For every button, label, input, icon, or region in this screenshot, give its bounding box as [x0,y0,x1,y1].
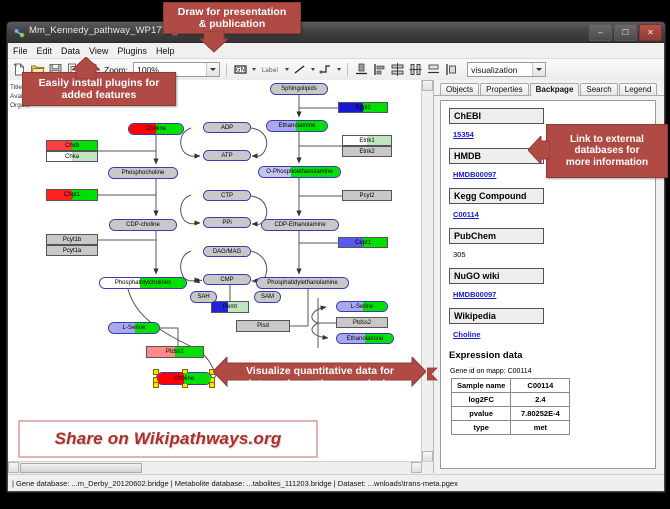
gene-node-sgpl1[interactable]: Sgpl1 [338,102,388,113]
gene-node-ptdss2[interactable]: Ptdss2 [336,317,388,328]
align-bottom-icon[interactable] [354,62,369,77]
metabolite-node-cdp-ethanolamine[interactable]: CDP-Ethanolamine [261,219,339,231]
close-button[interactable]: ✕ [639,24,662,41]
hscroll-thumb[interactable] [20,463,142,473]
callout-plugins-line2: added features [62,89,137,101]
line-dropdown-icon[interactable] [311,68,315,71]
svg-text:GN: GN [236,67,245,74]
db-link-nugo-wiki[interactable]: HMDB00097 [453,290,496,299]
callout-visualize-line1: Visualize quantitative data for [246,365,394,378]
node-label: PPi [222,220,231,226]
status-bar: | Gene database: ...m_Derby_20120602.bri… [8,474,664,491]
metabolite-node-ethanolamine-top[interactable]: Ethanolamine [266,120,328,132]
gene-node-pcyt1a[interactable]: Pcyt1a [46,245,98,256]
title-bar: Mm_Kennedy_pathway_WP1771_45176.gpml – ☐… [7,22,665,43]
metabolite-node-ctp[interactable]: CTP [203,190,251,201]
metabolite-node-o-phosphoethanolamine[interactable]: O-Phosphoethanolamine [258,166,341,178]
node-label: Ptdss1 [166,349,184,355]
node-label: Chkb [65,143,79,149]
connector-dropdown-icon[interactable] [337,68,341,71]
callout-link-line1: Link to external [570,134,644,146]
node-label: DAG/MAG [213,249,241,255]
chevron-down-icon[interactable] [206,63,219,76]
node-label: Pcyt1a [63,248,81,254]
stack-icon[interactable] [426,62,441,77]
node-label: O-Phosphoethanolamine [266,169,332,175]
node-label: CDP-choline [126,222,160,228]
scroll-right-button[interactable] [411,462,422,473]
scroll-up-button[interactable] [422,80,433,91]
line-icon[interactable] [292,62,307,77]
menu-edit[interactable]: Edit [37,46,53,56]
gene-node-etnk1[interactable]: Etnk1 [342,135,392,146]
db-link-wikipedia[interactable]: Choline [453,330,481,339]
expr-value: 2.4 [511,393,570,407]
callout-link-arrow [528,136,550,164]
metabolite-node-cmp[interactable]: CMP [203,274,251,285]
screenshot-root: Mm_Kennedy_pathway_WP1771_45176.gpml – ☐… [0,0,670,509]
tab-objects[interactable]: Objects [440,83,479,95]
expr-value: met [511,421,570,435]
datanode-dropdown-icon[interactable] [252,68,256,71]
tab-legend[interactable]: Legend [619,83,658,95]
node-label: Ethanolamine [279,123,316,129]
expr-value: C00114 [511,379,570,393]
db-value-row: HMDB00097 [449,284,647,302]
maximize-icon: ☐ [622,29,629,37]
callout-draw-arrow [200,31,228,53]
node-label: Chka [65,154,79,160]
metabolite-node-adp[interactable]: ADP [203,122,251,133]
node-label: Chpt1 [64,192,80,198]
callout-link: Link to external databases for more info… [546,124,668,178]
expr-key: Sample name [452,379,511,393]
callout-plugins-arrow [72,57,100,79]
metabolite-node-dag-mag[interactable]: DAG/MAG [203,246,251,257]
node-label: Phosphatidylethanolamine [267,280,337,286]
node-label: Sgpl1 [355,105,370,111]
node-label: Etnk1 [359,138,374,144]
callout-share-text: Share on Wikipathways.org [55,429,282,449]
callout-visualize-line2: integrative pathway analysis [249,378,391,391]
expr-value: 7.80252E-4 [511,407,570,421]
menu-bar: File Edit Data View Plugins Help [8,43,664,59]
callout-draw-line1: Draw for presentation [178,6,287,18]
node-label: Ethanolamine [347,336,384,342]
node-label: Cept1 [355,240,371,246]
node-label: ADP [221,125,233,131]
pathvisio-icon [13,26,25,38]
node-label: Pcyt1b [63,237,81,243]
toolbar-separator-2 [347,63,348,77]
label-dropdown-icon[interactable] [285,68,289,71]
datanode-icon[interactable]: GN [233,62,248,77]
node-label: CTP [221,193,233,199]
metabolite-node-phosphatidylcholines[interactable]: Phosphatidylcholines [99,277,187,289]
scroll-left-button[interactable] [8,462,19,473]
expr-key: pvalue [452,407,511,421]
callout-draw: Draw for presentation & publication [163,2,301,34]
visualization-combo[interactable]: visualization [467,62,546,77]
gene-node-chpt1[interactable]: Chpt1 [46,189,98,201]
metabolite-node-l-serine-right[interactable]: L-Serine [336,301,388,312]
maximize-button[interactable]: ☐ [614,24,637,41]
db-header-chebi: ChEBI [449,108,544,124]
node-label: Sphingolipids [281,86,317,92]
node-label: Choline [146,126,166,132]
db-link-hmdb[interactable]: HMDB00097 [453,170,496,179]
gene-node-cept1[interactable]: Cept1 [338,237,388,248]
node-label: Ptdss2 [353,320,371,326]
node-label: Phosphocholine [122,170,165,176]
db-value-row: Choline [449,324,647,342]
node-label: CMP [220,277,233,283]
menu-plugins[interactable]: Plugins [117,46,147,56]
gene-node-pisd[interactable]: Pisd [236,320,290,332]
gene-node-etnk2[interactable]: Etnk2 [342,146,392,157]
db-value-row: 305 [449,244,647,262]
canvas-vertical-scrollbar[interactable] [421,80,433,462]
metabolite-node-phosphatidylethanolamine[interactable]: Phosphatidylethanolamine [256,277,349,289]
table-row: log2FC2.4 [452,393,570,407]
metabolite-node-choline-top[interactable]: Choline [128,123,184,135]
tab-backpage[interactable]: Backpage [530,83,580,96]
callout-link-line2: databases for [574,145,639,157]
metabolite-node-atp[interactable]: ATP [203,150,251,161]
minimize-button[interactable]: – [589,24,612,41]
menu-help[interactable]: Help [156,46,175,56]
menu-view[interactable]: View [89,46,108,56]
label-icon[interactable]: Label [259,62,281,77]
table-row: Sample nameC00114 [452,379,570,393]
callout-share: Share on Wikipathways.org [18,420,318,458]
pathway-canvas[interactable]: Title: Availa Organi [8,80,434,473]
db-header-kegg-compound: Kegg Compound [449,188,544,204]
metabolite-node-ethanolamine-right[interactable]: Ethanolamine [336,333,394,344]
same-width-icon[interactable] [408,62,423,77]
gene-node-pemt[interactable]: Pemt [211,301,249,313]
node-label: SAH [197,294,209,300]
callout-expression-pointer [427,366,439,382]
callout-link-line3: more information [566,157,648,169]
svg-text:Label: Label [262,67,279,74]
expr-key: type [452,421,511,435]
side-panel-tabs: Objects Properties Backpage Search Legen… [434,80,664,96]
node-label: L-Serine [123,325,146,331]
distribute-vertical-icon[interactable] [390,62,405,77]
node-label: CDP-Ethanolamine [274,222,325,228]
visualization-value: visualization [471,65,532,75]
visualization-chevron-down-icon[interactable] [532,63,545,76]
metabolite-node-cdp-choline[interactable]: CDP-choline [109,219,177,231]
db-value-row: C00114 [449,204,647,222]
connector-icon[interactable] [318,62,333,77]
gene-node-pcyt1b[interactable]: Pcyt1b [46,234,98,245]
callout-visualize-text: Visualize quantitative data for integrat… [225,360,415,396]
node-label: Choline [174,376,194,382]
node-label: Pisd [257,323,269,329]
db-header-wikipedia: Wikipedia [449,308,544,324]
toolbar-separator [226,63,227,77]
tab-search[interactable]: Search [580,83,617,95]
gene-node-chkb[interactable]: Chkb [46,140,98,151]
callout-draw-line2: & publication [199,18,266,30]
canvas-horizontal-scrollbar[interactable] [8,461,433,473]
close-icon: ✕ [647,29,654,37]
menu-file[interactable]: File [13,46,28,56]
order-icon[interactable] [444,62,459,77]
node-label: Pemt [223,304,237,310]
db-link-chebi[interactable]: 15354 [453,130,474,139]
metabolite-node-l-serine-left[interactable]: L-Serine [108,322,160,334]
menu-data[interactable]: Data [61,46,80,56]
gene-node-chka[interactable]: Chka [46,151,98,162]
db-link-kegg-compound[interactable]: C00114 [453,210,479,219]
metabolite-node-sam[interactable]: SAM [254,291,281,303]
expression-heading: Expression data [449,350,647,361]
node-label: Phosphatidylcholines [115,280,171,286]
expression-table: Sample nameC00114log2FC2.4pvalue7.80252E… [451,378,570,435]
db-header-nugo-wiki: NuGO wiki [449,268,544,284]
node-label: ATP [221,153,232,159]
node-label: Pcyt2 [359,193,374,199]
window-controls: – ☐ ✕ [589,24,662,41]
db-value-pubchem: 305 [453,250,466,259]
metabolite-node-phosphocholine[interactable]: Phosphocholine [108,167,178,179]
node-label: Etnk2 [359,149,374,155]
status-text: | Gene database: ...m_Derby_20120602.bri… [8,479,458,488]
metabolite-node-choline-selected[interactable]: Choline [156,372,212,385]
tab-properties[interactable]: Properties [480,83,528,95]
table-row: pvalue7.80252E-4 [452,407,570,421]
db-header-pubchem: PubChem [449,228,544,244]
node-label: SAM [261,294,274,300]
gene-node-ptdss1[interactable]: Ptdss1 [146,346,204,358]
gene-id-label: Gene id on mapp: C00114 [450,368,647,375]
metabolite-node-ppi[interactable]: PPi [203,217,251,228]
metabolite-node-sphingolipids[interactable]: Sphingolipids [270,83,328,95]
expr-key: log2FC [452,393,511,407]
node-label: L-Serine [351,304,374,310]
align-left-icon[interactable] [372,62,387,77]
gene-node-pcyt2[interactable]: Pcyt2 [342,190,392,201]
minimize-icon: – [598,29,602,37]
table-row: typemet [452,421,570,435]
